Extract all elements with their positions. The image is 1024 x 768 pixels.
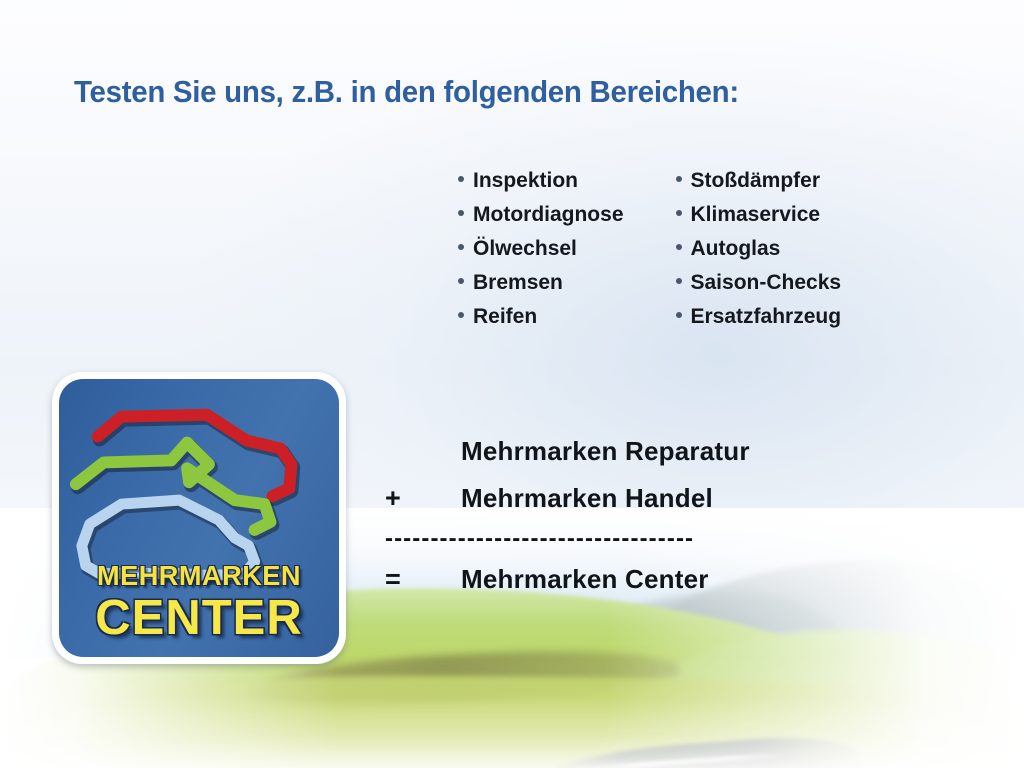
equation-row-3: = Mehrmarken Center [385, 556, 885, 603]
landscape-road-marking [560, 752, 790, 768]
list-item-label: Saison-Checks [691, 266, 842, 300]
bullet-dot-icon [676, 176, 682, 182]
list-item: Klimaservice [676, 198, 842, 232]
bullet-dot-icon [458, 312, 464, 318]
bullet-dot-icon [676, 278, 682, 284]
logo-wordmark: MEHRMARKEN CENTER [59, 562, 339, 643]
service-list-right: Stoßdämpfer Klimaservice Autoglas Saison… [676, 164, 842, 334]
list-item-label: Stoßdämpfer [691, 164, 821, 198]
logo-word-center: CENTER [59, 594, 339, 643]
list-item-label: Ersatzfahrzeug [691, 300, 842, 334]
landscape-foreground-grass [0, 676, 1024, 768]
slide-canvas: Testen Sie uns, z.B. in den folgenden Be… [0, 0, 1024, 768]
bullet-dot-icon [458, 244, 464, 250]
list-item: Ölwechsel [458, 232, 624, 266]
service-list-left: Inspektion Motordiagnose Ölwechsel Brems… [458, 164, 624, 334]
slide-headline: Testen Sie uns, z.B. in den folgenden Be… [74, 74, 739, 110]
bullet-dot-icon [458, 176, 464, 182]
landscape-distant-mountains-secondary [560, 590, 860, 680]
list-item-label: Autoglas [691, 232, 781, 266]
list-item-label: Motordiagnose [473, 198, 624, 232]
bullet-dot-icon [458, 210, 464, 216]
logo-panel: MEHRMARKEN CENTER [59, 379, 339, 657]
list-item: Stoßdämpfer [676, 164, 842, 198]
mehrmarken-center-logo: MEHRMARKEN CENTER [52, 372, 346, 664]
bullet-dot-icon [458, 278, 464, 284]
bullet-dot-icon [676, 244, 682, 250]
equation-divider-row: ---------------------------------- [385, 522, 885, 556]
equation-row-1: Mehrmarken Reparatur [385, 428, 885, 475]
list-item: Reifen [458, 300, 624, 334]
equation-block: Mehrmarken Reparatur + Mehrmarken Handel… [385, 428, 885, 603]
equation-term: Mehrmarken Handel [461, 483, 713, 514]
landscape-fade-bottom [0, 698, 1024, 768]
list-item-label: Inspektion [473, 164, 578, 198]
equation-term: Mehrmarken Reparatur [461, 436, 750, 467]
equation-row-2: + Mehrmarken Handel [385, 475, 885, 522]
list-item: Ersatzfahrzeug [676, 300, 842, 334]
list-item-label: Ölwechsel [473, 232, 577, 266]
list-item: Bremsen [458, 266, 624, 300]
landscape-road [519, 732, 861, 768]
equation-operator-plus: + [385, 483, 461, 514]
bullet-dot-icon [676, 312, 682, 318]
equation-dashed-divider: ---------------------------------- [385, 534, 885, 544]
bullet-dot-icon [676, 210, 682, 216]
logo-word-mehrmarken: MEHRMARKEN [63, 562, 335, 590]
list-item-label: Reifen [473, 300, 537, 334]
list-item-label: Klimaservice [691, 198, 821, 232]
landscape-green-hill-right [600, 630, 1024, 768]
list-item: Inspektion [458, 164, 624, 198]
list-item-label: Bremsen [473, 266, 563, 300]
equation-term: Mehrmarken Center [461, 564, 709, 595]
equation-operator-equals: = [385, 564, 461, 595]
service-lists: Inspektion Motordiagnose Ölwechsel Brems… [458, 164, 841, 334]
list-item: Motordiagnose [458, 198, 624, 232]
list-item: Autoglas [676, 232, 842, 266]
list-item: Saison-Checks [676, 266, 842, 300]
